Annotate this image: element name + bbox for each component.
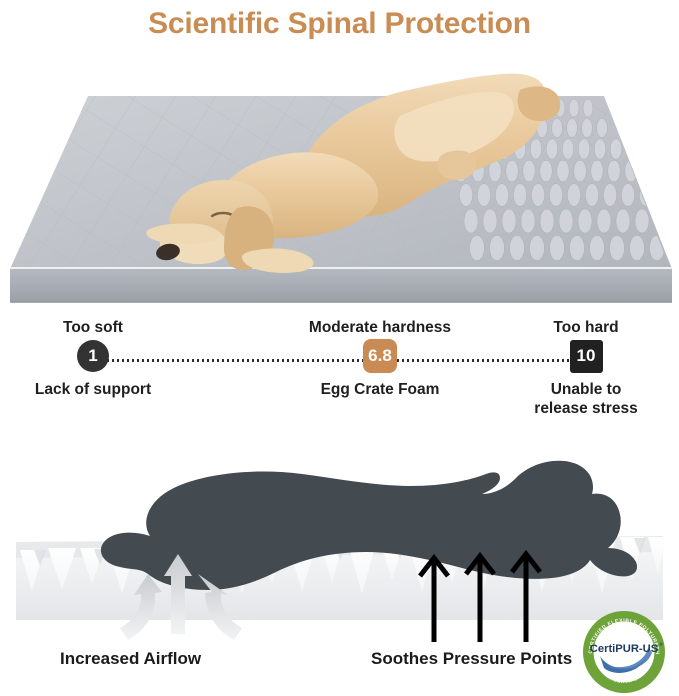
scale-stop-2-bottom-label: Egg Crate Foam bbox=[262, 380, 498, 399]
page-title: Scientific Spinal Protection bbox=[0, 4, 679, 44]
bed-side-gusset bbox=[10, 269, 672, 302]
scale-stop-1-top-label: Too soft bbox=[10, 318, 176, 337]
certipur-us-badge: CONTAINS CERTIFIED FLEXIBLE POLYURETHANE… bbox=[578, 608, 670, 696]
scale-stop-2-marker-row: 6.8 bbox=[262, 337, 498, 375]
scale-stop-3-top-label: Too hard bbox=[502, 318, 670, 337]
dog-bed-illustration bbox=[0, 56, 679, 306]
label-soothes-pressure-points: Soothes Pressure Points bbox=[371, 648, 572, 670]
scale-stop-1-bottom-label: Lack of support bbox=[10, 380, 176, 399]
badge-brand-text: CertiPUR-US bbox=[590, 643, 659, 655]
product-photo bbox=[0, 56, 679, 306]
scale-stop-3-marker-row: 10 bbox=[502, 337, 670, 375]
scale-stop-3-bottom-label-line2: release stress bbox=[502, 399, 670, 418]
scale-stop-1-value-badge: 1 bbox=[77, 340, 109, 372]
scale-stop-2-value-badge: 6.8 bbox=[363, 339, 397, 373]
scale-stop-3-bottom-label-line1: Unable to bbox=[502, 380, 670, 399]
certipur-badge-svg: CONTAINS CERTIFIED FLEXIBLE POLYURETHANE… bbox=[578, 608, 670, 696]
scale-stop-too-hard: Too hard 10 Unable to release stress bbox=[502, 318, 670, 418]
scale-stop-moderate: Moderate hardness 6.8 Egg Crate Foam bbox=[262, 318, 498, 399]
title-bar: Scientific Spinal Protection bbox=[0, 4, 679, 44]
scale-stop-too-soft: Too soft 1 Lack of support bbox=[10, 318, 176, 399]
infographic-page: Scientific Spinal Protection bbox=[0, 0, 679, 696]
dog-tail bbox=[518, 86, 561, 121]
scale-stop-3-value-badge: 10 bbox=[570, 340, 603, 373]
scale-stop-2-top-label: Moderate hardness bbox=[262, 318, 498, 337]
label-increased-airflow: Increased Airflow bbox=[60, 648, 201, 670]
scale-stop-1-marker-row: 1 bbox=[10, 337, 176, 375]
hardness-scale: Too soft 1 Lack of support Moderate hard… bbox=[0, 318, 679, 418]
